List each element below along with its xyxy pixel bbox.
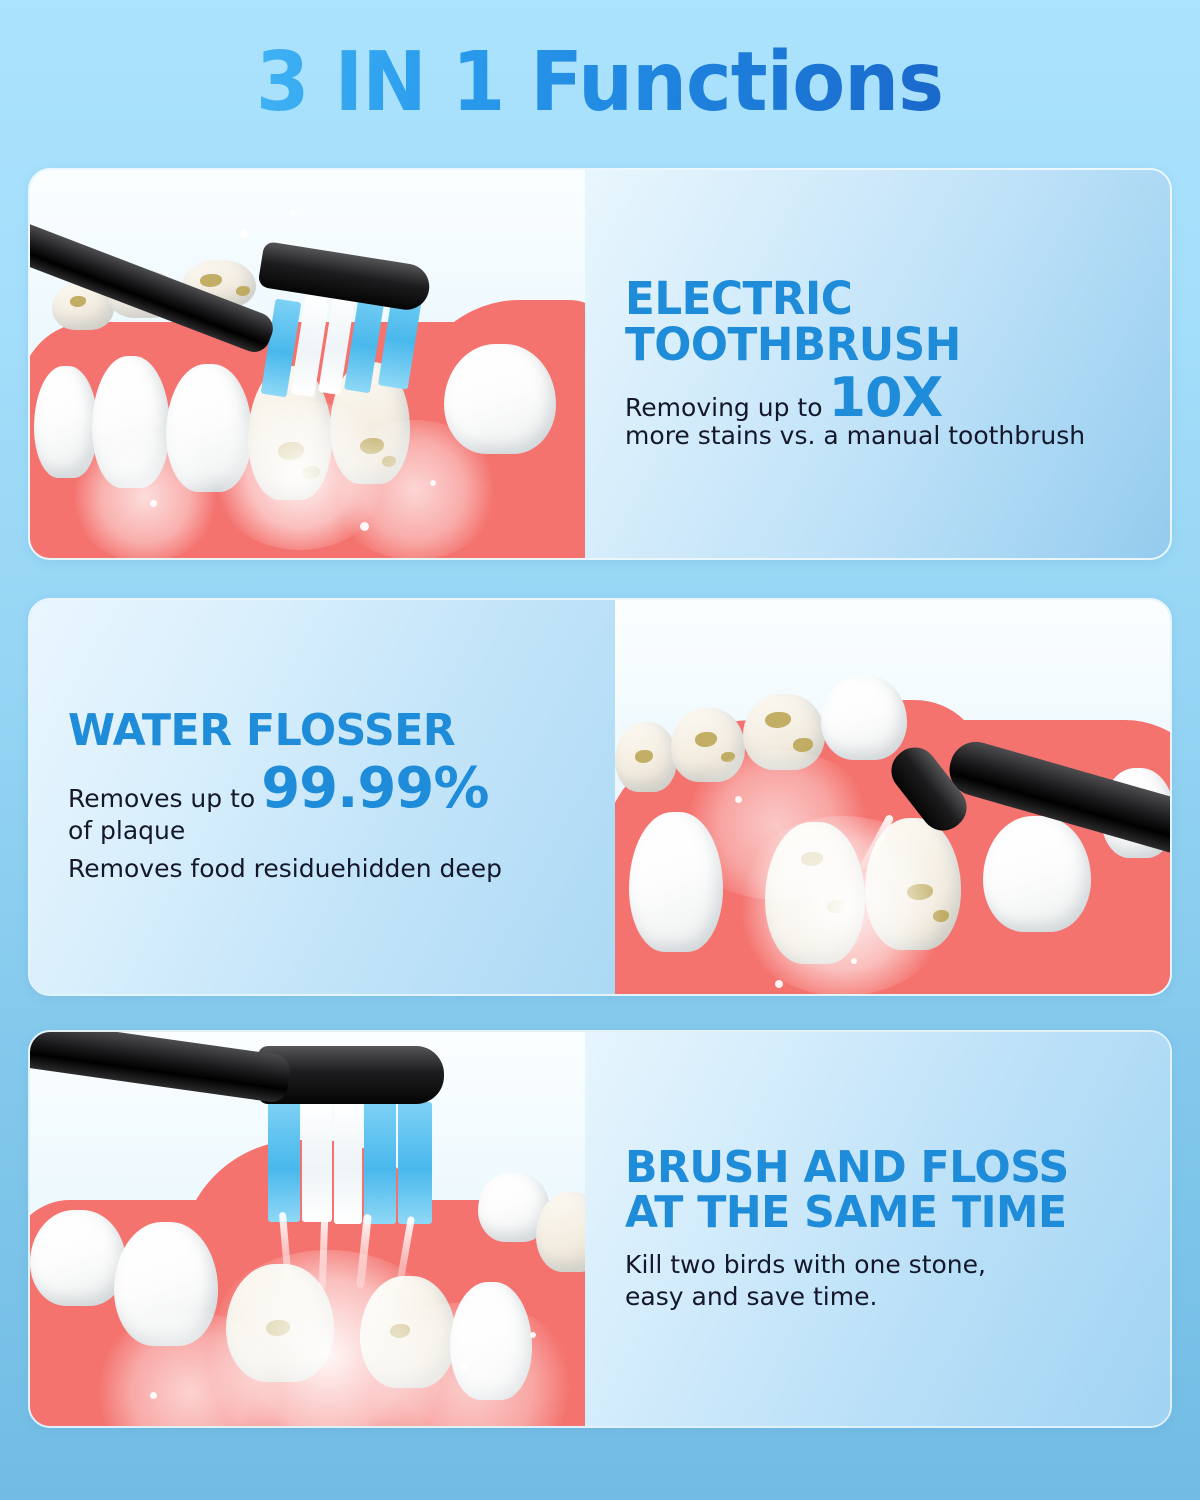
panel-heading: ELECTRIC TOOTHBRUSH bbox=[625, 276, 1154, 368]
water-droplet bbox=[360, 522, 369, 531]
panel-heading: BRUSH AND FLOSS AT THE SAME TIME bbox=[625, 1146, 1154, 1236]
brush-and-floss-illustration bbox=[30, 1032, 585, 1426]
water-droplet bbox=[851, 958, 857, 964]
water-spray bbox=[677, 750, 877, 900]
water-droplet bbox=[775, 980, 783, 988]
water-splash bbox=[330, 420, 500, 558]
electric-toothbrush-illustration bbox=[30, 170, 585, 558]
water-flosser-text: WATER FLOSSER Removes up to 99.99% of pl… bbox=[30, 600, 615, 994]
tooth-lower-2 bbox=[983, 816, 1091, 932]
feature-panel-water-flosser: WATER FLOSSER Removes up to 99.99% of pl… bbox=[28, 598, 1172, 996]
subtext-prefix: Removes up to bbox=[68, 783, 255, 815]
panel-subtext-line1: Removing up to 10X bbox=[625, 374, 1170, 424]
bristle-tuft bbox=[398, 1102, 432, 1224]
subtext-highlight: 10X bbox=[822, 374, 948, 423]
scene-background bbox=[30, 170, 585, 558]
bristle-tuft bbox=[364, 1102, 396, 1224]
panel-subtext-line2: more stains vs. a manual toothbrush bbox=[625, 420, 1170, 453]
subtext-prefix: Removing up to bbox=[625, 392, 822, 424]
scene-background bbox=[30, 1032, 585, 1426]
electric-toothbrush-text: ELECTRIC TOOTHBRUSH Removing up to 10X m… bbox=[585, 170, 1170, 558]
page-header: 3 IN 1 Functions bbox=[0, 42, 1200, 124]
subtext-highlight: 99.99% bbox=[255, 764, 494, 814]
bristle-tuft bbox=[268, 1102, 300, 1222]
water-droplet bbox=[290, 210, 296, 216]
water-droplet bbox=[460, 1362, 468, 1370]
panel-subtext-line1: Removes up to 99.99% of plaque bbox=[68, 764, 587, 847]
bristle-tuft bbox=[302, 1102, 332, 1222]
panel-heading: WATER FLOSSER bbox=[68, 709, 571, 754]
water-droplet bbox=[240, 230, 248, 238]
tooth-upper-4 bbox=[821, 676, 907, 760]
panel-subtext-line2: Kill two birds with one stone, easy and … bbox=[625, 1249, 1170, 1312]
water-droplet bbox=[430, 480, 436, 486]
feature-panel-brush-and-floss: BRUSH AND FLOSS AT THE SAME TIME Kill tw… bbox=[28, 1030, 1172, 1428]
water-splash bbox=[70, 432, 220, 558]
feature-panel-electric-toothbrush: ELECTRIC TOOTHBRUSH Removing up to 10X m… bbox=[28, 168, 1172, 560]
panel-subtext-line2: Removes food residuehidden deep bbox=[68, 853, 587, 886]
toothbrush-handle bbox=[30, 1032, 292, 1104]
page-title: 3 IN 1 Functions bbox=[256, 42, 943, 124]
bristle-tuft bbox=[334, 1102, 362, 1224]
water-droplet bbox=[735, 796, 742, 803]
water-droplet bbox=[150, 1392, 157, 1399]
tooth-1 bbox=[30, 1210, 126, 1306]
brush-and-floss-text: BRUSH AND FLOSS AT THE SAME TIME Kill tw… bbox=[585, 1032, 1170, 1426]
water-flosser-illustration bbox=[615, 600, 1170, 994]
water-droplet bbox=[150, 500, 157, 507]
water-droplet bbox=[530, 1332, 536, 1338]
scene-background bbox=[615, 600, 1170, 994]
subtext-suffix: of plaque bbox=[68, 815, 185, 847]
